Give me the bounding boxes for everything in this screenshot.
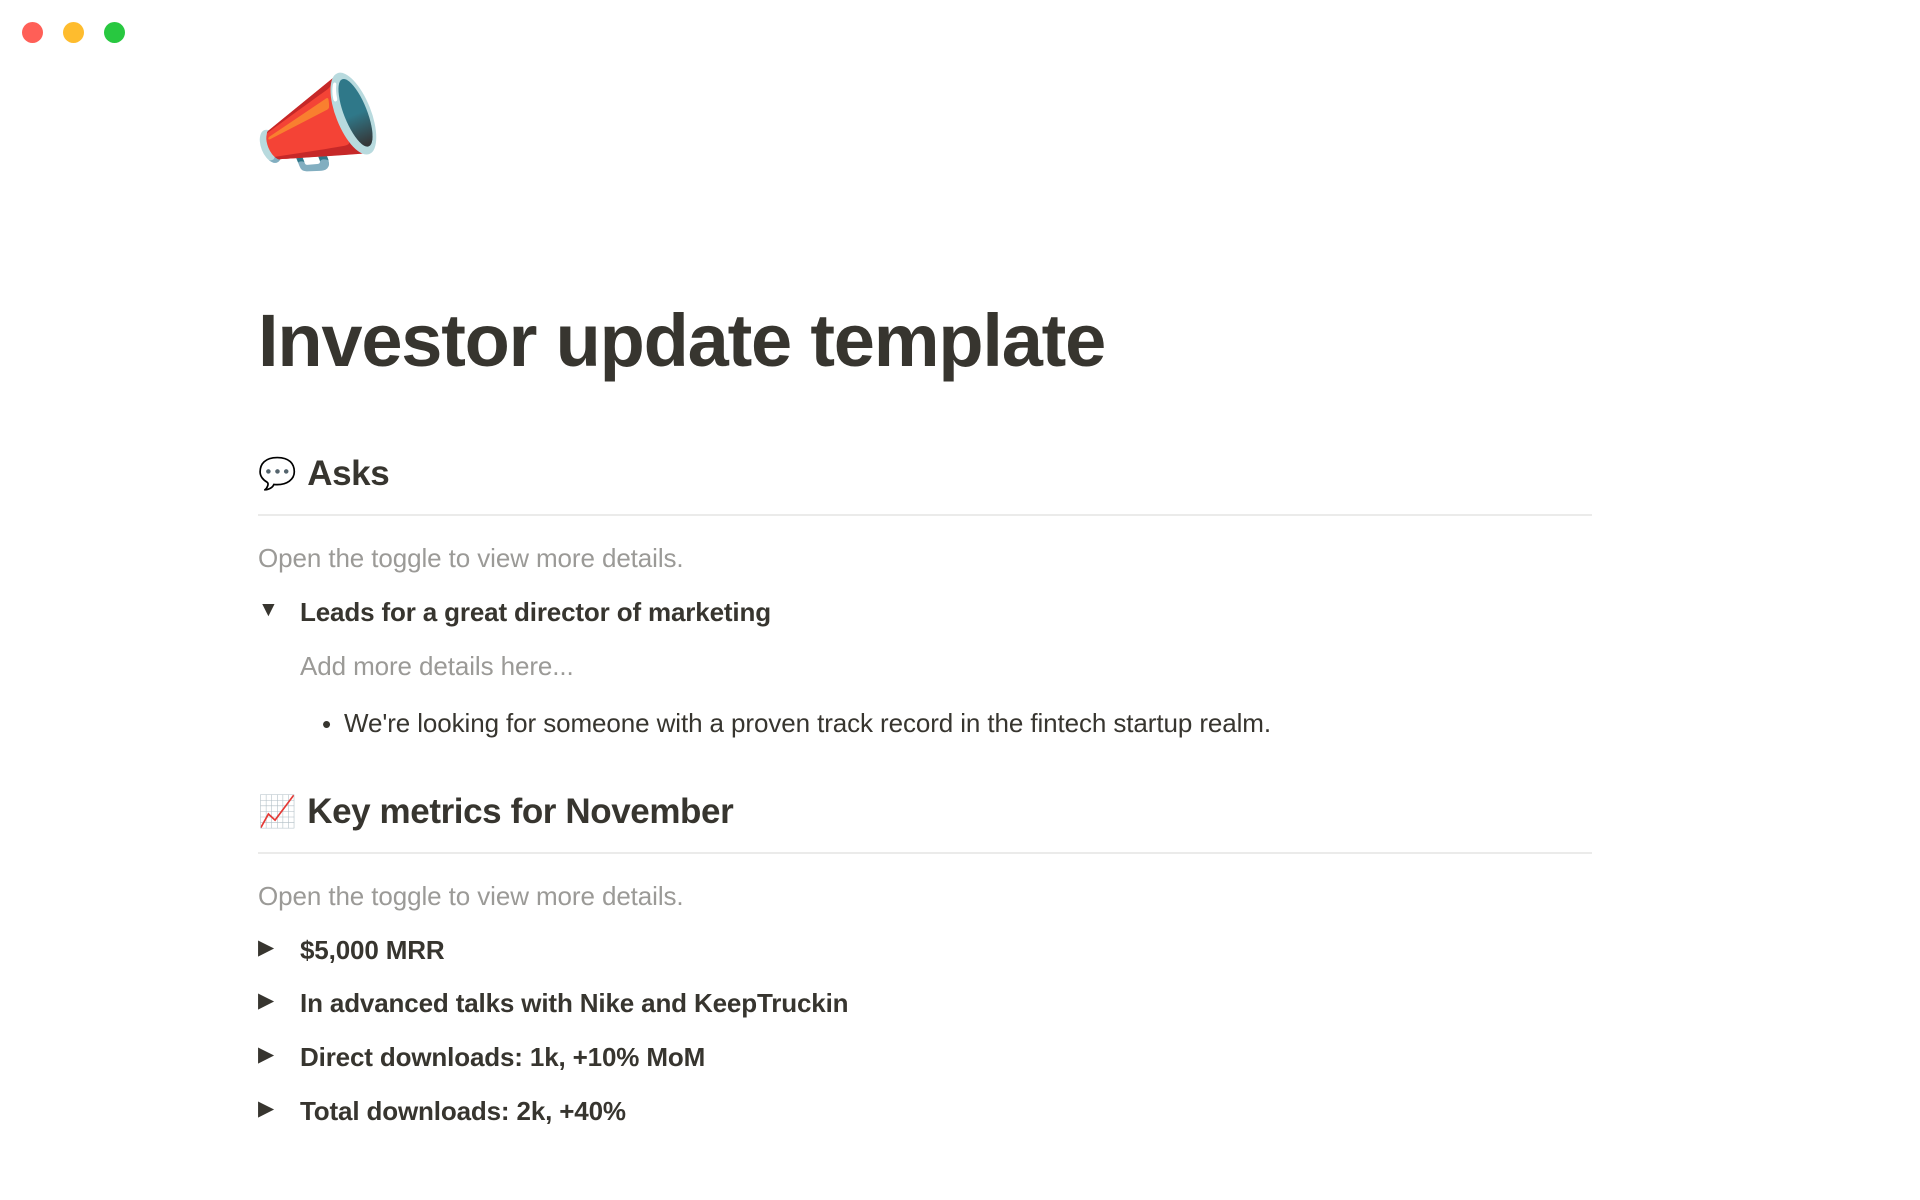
toggle-total-downloads[interactable]: ▶ Total downloads: 2k, +40%	[258, 1093, 1592, 1131]
app-window: 📣 Investor update template 💬 Asks Open t…	[0, 0, 1920, 1200]
heading-divider	[258, 852, 1592, 854]
toggle-advanced-talks[interactable]: ▶ In advanced talks with Nike and KeepTr…	[258, 985, 1592, 1023]
metrics-toggle-list: ▶ $5,000 MRR ▶ In advanced talks with Ni…	[258, 932, 1592, 1131]
page-title[interactable]: Investor update template	[258, 300, 1105, 381]
toggle-mrr[interactable]: ▶ $5,000 MRR	[258, 932, 1592, 970]
toggle-direct-downloads-label: Direct downloads: 1k, +10% MoM	[300, 1039, 705, 1077]
bullet-point-icon: •	[322, 706, 344, 744]
list-item[interactable]: • We're looking for someone with a prove…	[322, 705, 1592, 744]
toggle-direct-downloads[interactable]: ▶ Direct downloads: 1k, +10% MoM	[258, 1039, 1592, 1077]
toggle-leads-marketing-content: Add more details here... • We're looking…	[300, 648, 1592, 743]
toggle-total-downloads-label: Total downloads: 2k, +40%	[300, 1093, 626, 1131]
toggle-leads-marketing-label: Leads for a great director of marketing	[300, 594, 771, 632]
chevron-right-icon[interactable]: ▶	[258, 937, 282, 958]
toggle-leads-marketing[interactable]: ▼ Leads for a great director of marketin…	[258, 594, 1592, 632]
toggle-advanced-talks-label: In advanced talks with Nike and KeepTruc…	[300, 985, 848, 1023]
section-key-metrics: 📈 Key metrics for November Open the togg…	[258, 790, 1592, 1131]
toggle-mrr-label: $5,000 MRR	[300, 932, 444, 970]
heading-key-metrics-label: Key metrics for November	[307, 790, 733, 834]
heading-asks[interactable]: 💬 Asks	[258, 452, 1592, 496]
chevron-down-icon[interactable]: ▼	[258, 599, 282, 620]
heading-key-metrics[interactable]: 📈 Key metrics for November	[258, 790, 1592, 834]
section-asks: 💬 Asks Open the toggle to view more deta…	[258, 452, 1592, 744]
megaphone-emoji[interactable]: 📣	[252, 72, 384, 178]
document-page: 📣 Investor update template 💬 Asks Open t…	[0, 0, 1920, 1200]
chevron-right-icon[interactable]: ▶	[258, 1098, 282, 1119]
chevron-right-icon[interactable]: ▶	[258, 1044, 282, 1065]
heading-divider	[258, 514, 1592, 516]
chart-increasing-icon: 📈	[258, 796, 296, 827]
heading-asks-label: Asks	[307, 452, 389, 496]
chevron-right-icon[interactable]: ▶	[258, 990, 282, 1011]
toggle-child-placeholder[interactable]: Add more details here...	[300, 648, 1592, 686]
speech-balloon-icon: 💬	[258, 458, 296, 489]
metrics-intro-text[interactable]: Open the toggle to view more details.	[258, 877, 1592, 916]
asks-intro-text[interactable]: Open the toggle to view more details.	[258, 539, 1592, 578]
list-item-text: We're looking for someone with a proven …	[344, 705, 1271, 743]
